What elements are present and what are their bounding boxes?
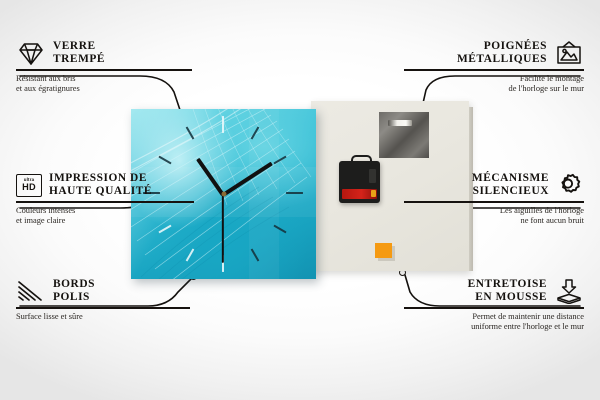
ultra-hd-badge-icon: ultra HD xyxy=(16,174,42,197)
feature-poignees-metalliques: POIGNÉES MÉTALLIQUES Facilite le montage… xyxy=(404,40,584,94)
tick-3 xyxy=(286,192,303,194)
feature-title-line2: POLIS xyxy=(53,291,95,304)
feature-rule xyxy=(404,307,584,308)
picture-hanger-icon xyxy=(554,40,584,66)
feature-sub-line1: Les aiguilles de l'horloge xyxy=(404,206,584,216)
feature-rule xyxy=(16,201,194,202)
feature-sub-line1: Facilite le montage xyxy=(404,74,584,84)
foam-spacer xyxy=(375,243,392,258)
badge-hd-label: HD xyxy=(22,183,36,192)
feature-title-line1: BORDS xyxy=(53,278,95,291)
feature-title-line1: POIGNÉES xyxy=(457,40,547,53)
battery xyxy=(342,189,377,199)
feature-sub-line1: Résistant aux bris xyxy=(16,74,196,84)
tick-12 xyxy=(222,116,224,133)
feature-sub-line2: uniforme entre l'horloge et le mur xyxy=(404,322,584,332)
feature-title-line2: HAUTE QUALITÉ xyxy=(49,185,152,198)
feature-title-line1: ENTRETOISE xyxy=(468,278,547,291)
hanger-slot xyxy=(388,120,412,126)
mechanism-bail xyxy=(351,155,372,166)
feature-title-line1: MÉCANISME xyxy=(472,172,549,185)
diamond-icon xyxy=(16,41,46,66)
feature-impression-haute-qualite: ultra HD IMPRESSION DE HAUTE QUALITÉ Cou… xyxy=(16,172,198,226)
infographic-canvas: VERRE TREMPÉ Résistant aux bris et aux é… xyxy=(0,0,600,400)
mechanism-shaft xyxy=(369,169,376,183)
feature-sub-line2: de l'horloge sur le mur xyxy=(404,84,584,94)
feature-title-line2: TREMPÉ xyxy=(53,53,105,66)
metal-hanger xyxy=(379,112,429,158)
feature-title-line1: VERRE xyxy=(53,40,105,53)
feature-sub-line2: et aux égratignures xyxy=(16,84,196,94)
feature-title-line2: MÉTALLIQUES xyxy=(457,53,547,66)
feature-rule xyxy=(16,69,192,70)
feature-verre-trempe: VERRE TREMPÉ Résistant aux bris et aux é… xyxy=(16,40,196,94)
feature-mecanisme-silencieux: MÉCANISME SILENCIEUX Les aiguilles de l'… xyxy=(404,172,584,226)
feature-sub-line1: Surface lisse et sûre xyxy=(16,312,194,322)
feature-title-line2: SILENCIEUX xyxy=(472,185,549,198)
gear-icon xyxy=(556,172,584,198)
feature-sub-line2: et image claire xyxy=(16,216,198,226)
polished-edge-icon xyxy=(16,279,46,303)
clock-center-pin xyxy=(221,192,226,197)
second-hand xyxy=(222,194,224,262)
feature-title-line2: EN MOUSSE xyxy=(468,291,547,304)
feature-sub-line1: Couleurs intenses xyxy=(16,206,198,216)
feature-rule xyxy=(16,307,190,308)
feature-rule xyxy=(404,69,584,70)
feature-sub-line2: ne font aucun bruit xyxy=(404,216,584,226)
feature-bords-polis: BORDS POLIS Surface lisse et sûre xyxy=(16,278,194,322)
feature-entretoise-en-mousse: ENTRETOISE EN MOUSSE Permet de maintenir… xyxy=(404,278,584,332)
feature-sub-line1: Permet de maintenir une distance xyxy=(404,312,584,322)
foam-spacer-icon xyxy=(554,278,584,304)
feature-rule xyxy=(404,201,584,202)
clock-mechanism xyxy=(339,161,380,203)
feature-title-line1: IMPRESSION DE xyxy=(49,172,152,185)
